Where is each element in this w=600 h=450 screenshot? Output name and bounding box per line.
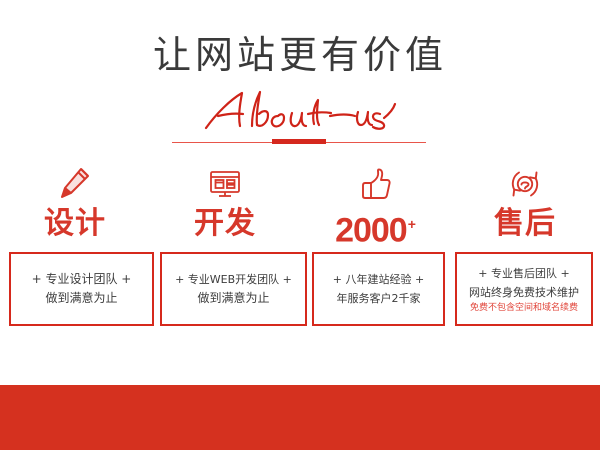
feature-title-suffix: + <box>408 216 415 232</box>
feature-column-clients: 2000+ <box>300 163 450 253</box>
thumbs-up-icon <box>300 163 450 205</box>
divider-accent <box>272 139 326 144</box>
box-line: + 专业售后团队 + <box>478 264 569 283</box>
box-line: 做到满意为止 <box>45 289 117 308</box>
feature-box-support: + 专业售后团队 + 网站终身免费技术维护 免费不包含空间和域名续费 <box>455 252 593 326</box>
feature-box-clients: + 八年建站经验 + 年服务客户2千家 <box>312 252 445 326</box>
support-refresh-icon <box>450 163 600 205</box>
box-line: + 专业设计团队 + <box>32 270 132 289</box>
feature-box-design: + 专业设计团队 + 做到满意为止 <box>9 252 154 326</box>
about-us-banner: 让网站更有价值 <box>0 0 600 450</box>
feature-column-development: 开发 <box>150 163 300 253</box>
pencil-icon <box>0 163 150 205</box>
feature-columns: 设计 开发 <box>0 163 600 253</box>
page-title: 让网站更有价值 <box>0 33 600 77</box>
feature-title: 开发 <box>150 207 300 241</box>
header-section: 让网站更有价值 <box>0 0 600 160</box>
monitor-code-icon <box>150 163 300 205</box>
box-disclaimer-note: 免费不包含空间和域名续费 <box>470 302 578 315</box>
feature-title: 设计 <box>0 207 150 241</box>
feature-title-wrap: 2000+ <box>300 207 450 247</box>
script-title-wrap <box>0 88 600 134</box>
box-line: + 八年建站经验 + <box>333 270 424 289</box>
box-line: 年服务客户2千家 <box>337 289 421 308</box>
box-line: + 专业WEB开发团队 + <box>175 270 292 289</box>
feature-title: 2000 <box>335 211 407 249</box>
box-line: 做到满意为止 <box>197 289 269 308</box>
bottom-red-banner <box>0 385 600 450</box>
about-us-script-icon <box>200 88 400 134</box>
feature-title: 售后 <box>450 207 600 241</box>
box-line: 网站终身免费技术维护 <box>469 283 579 302</box>
white-spacer <box>0 328 600 385</box>
feature-boxes: + 专业设计团队 + 做到满意为止 + 专业WEB开发团队 + 做到满意为止 +… <box>0 252 600 328</box>
feature-box-development: + 专业WEB开发团队 + 做到满意为止 <box>160 252 307 326</box>
feature-column-support: 售后 <box>450 163 600 253</box>
feature-column-design: 设计 <box>0 163 150 253</box>
